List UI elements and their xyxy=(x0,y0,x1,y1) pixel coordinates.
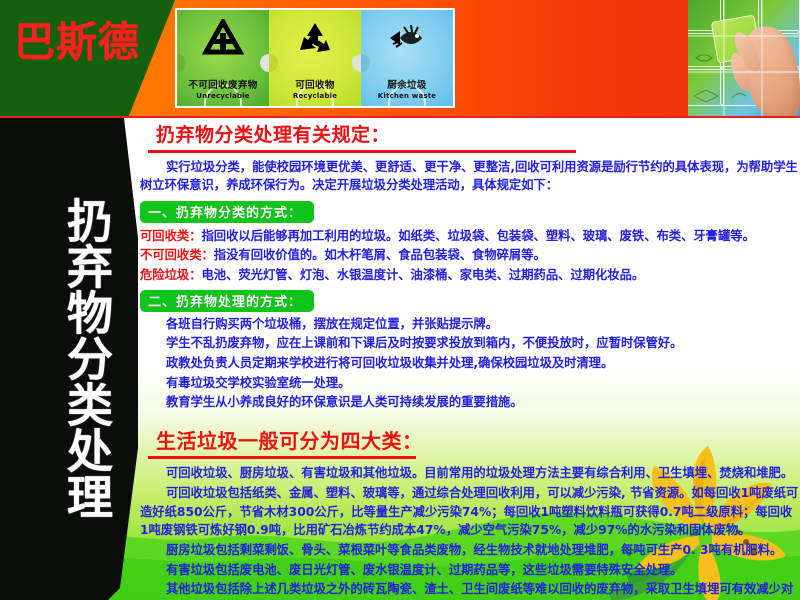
recycle-arrows-icon xyxy=(292,19,338,59)
header-banner: 巴斯德 不可回收废弃物 Unrecyclable xyxy=(0,0,800,118)
list-item: 有毒垃圾交学校实验室统一处理。 xyxy=(166,374,800,393)
puzzle-notch-icon xyxy=(361,54,370,72)
definition-row: 可回收类：指回收以后能够再加工利用的垃圾。如纸类、垃圾袋、包装袋、塑料、玻璃、废… xyxy=(140,227,800,246)
definition-key: 可回收类： xyxy=(140,229,202,243)
section-tag-1: 一、扔弃物分类的方式： xyxy=(140,201,314,223)
waste-card-kitchen: 厨余垃圾 Kitchen waste xyxy=(361,10,453,106)
list-item: 教育学生从小养成良好的环保意识是人类可持续发展的重要措施。 xyxy=(166,393,800,412)
brand-logo-text: 巴斯德 xyxy=(14,22,140,63)
spacer xyxy=(140,413,800,420)
title-underline-1 xyxy=(148,150,576,153)
main-content: 扔弃物分类处理有关规定： 实行垃圾分类，能使校园环境更优美、更舒适、更干净、更整… xyxy=(140,124,800,594)
waste-card-label-cn: 可回收物 xyxy=(295,81,335,92)
handling-method-list: 各班自行购买两个垃圾桶，摆放在规定位置，并张贴提示牌。 学生不乱扔废弃物，应在上… xyxy=(166,315,800,412)
definition-row: 危险垃圾：电池、荧光灯管、灯泡、水银温度计、油漆桶、家电类、过期药品、过期化妆品… xyxy=(140,266,800,285)
definition-value: 电池、荧光灯管、灯泡、水银温度计、油漆桶、家电类、过期药品、过期化妆品。 xyxy=(202,268,645,282)
definition-key: 不可回收类： xyxy=(140,248,214,262)
unrecyclable-arrows-icon xyxy=(200,19,246,59)
definition-value: 指没有回收价值的。如木杆笔屑、食品包装袋、食物碎屑等。 xyxy=(214,248,546,262)
list-item: 其他垃圾包括除上述几类垃圾之外的砖瓦陶瓷、渣土、卫生间废纸等难以回收的废弃物，采… xyxy=(140,580,800,600)
page-title-2: 生活垃圾一般可分为四大类： xyxy=(156,429,800,453)
page-title-1: 扔弃物分类处理有关规定： xyxy=(156,124,800,147)
four-categories-list: 可回收垃圾、厨房垃圾、有害垃圾和其他垃圾。目前常用的垃圾处理方法主要有综合利用、… xyxy=(140,464,800,600)
puzzle-notch-icon xyxy=(177,54,186,72)
puzzle-notch-icon xyxy=(269,54,278,72)
waste-card-label-en: Kitchen waste xyxy=(378,92,437,100)
category-definition-list: 可回收类：指回收以后能够再加工利用的垃圾。如纸类、垃圾袋、包装袋、塑料、玻璃、废… xyxy=(140,227,800,285)
puzzle-hand-photo xyxy=(688,0,800,116)
fish-bone-icon xyxy=(384,19,430,59)
left-vertical-band: 扔弃物分类处理 xyxy=(0,118,138,600)
intro-paragraph: 实行垃圾分类，能使校园环境更优美、更舒适、更干净、更整洁,回收可利用资源是励行节… xyxy=(140,158,800,195)
waste-card-label-cn: 不可回收废弃物 xyxy=(188,81,257,92)
definition-value: 指回收以后能够再加工利用的垃圾。如纸类、垃圾袋、包装袋、塑料、玻璃、废铁、布类、… xyxy=(202,229,755,243)
definition-key: 危险垃圾： xyxy=(140,268,202,282)
vertical-title: 扔弃物分类处理 xyxy=(26,132,110,584)
waste-card-label-en: Recyclable xyxy=(293,92,337,100)
list-item: 各班自行购买两个垃圾桶，摆放在规定位置，并张贴提示牌。 xyxy=(166,315,800,334)
puzzle-tab-icon xyxy=(260,54,269,72)
waste-card-recyclable: 可回收物 Recyclable xyxy=(269,10,361,106)
section-tag-2: 二、扔弃物处理的方式： xyxy=(140,290,314,312)
waste-card-unrecyclable: 不可回收废弃物 Unrecyclable xyxy=(177,10,269,106)
list-item: 可回收垃圾、厨房垃圾、有害垃圾和其他垃圾。目前常用的垃圾处理方法主要有综合利用、… xyxy=(140,464,800,483)
list-item: 学生不乱扔废弃物，应在上课前和下课后及时按要求投放到箱内，不便投放时，应暂时保管… xyxy=(166,334,800,353)
waste-card-label-cn: 厨余垃圾 xyxy=(387,81,427,92)
puzzle-tab-icon xyxy=(352,54,361,72)
waste-card-label-en: Unrecyclable xyxy=(196,92,249,100)
list-item: 有害垃圾包括废电池、废日光灯管、废水银温度计、过期药品等，这些垃圾需要特殊安全处… xyxy=(140,561,800,580)
list-item: 厨房垃圾包括剩菜剩饭、骨头、菜根菜叶等食品类废物，经生物技术就地处理堆肥，每吨可… xyxy=(140,541,800,560)
definition-row: 不可回收类：指没有回收价值的。如木杆笔屑、食品包装袋、食物碎屑等。 xyxy=(140,246,800,265)
list-item: 可回收垃圾包括纸类、金属、塑料、玻璃等，通过综合处理回收利用，可以减少污染, 节… xyxy=(140,484,800,540)
header-divider xyxy=(0,116,800,118)
waste-category-cards: 不可回收废弃物 Unrecyclable 可回收物 Recyclable xyxy=(175,8,455,108)
title-underline-2 xyxy=(148,456,416,459)
poster-root: 巴斯德 不可回收废弃物 Unrecyclable xyxy=(0,0,800,600)
list-item: 政教处负责人员定期来学校进行将可回收垃圾收集并处理,确保校园垃圾及时清理。 xyxy=(166,354,800,373)
